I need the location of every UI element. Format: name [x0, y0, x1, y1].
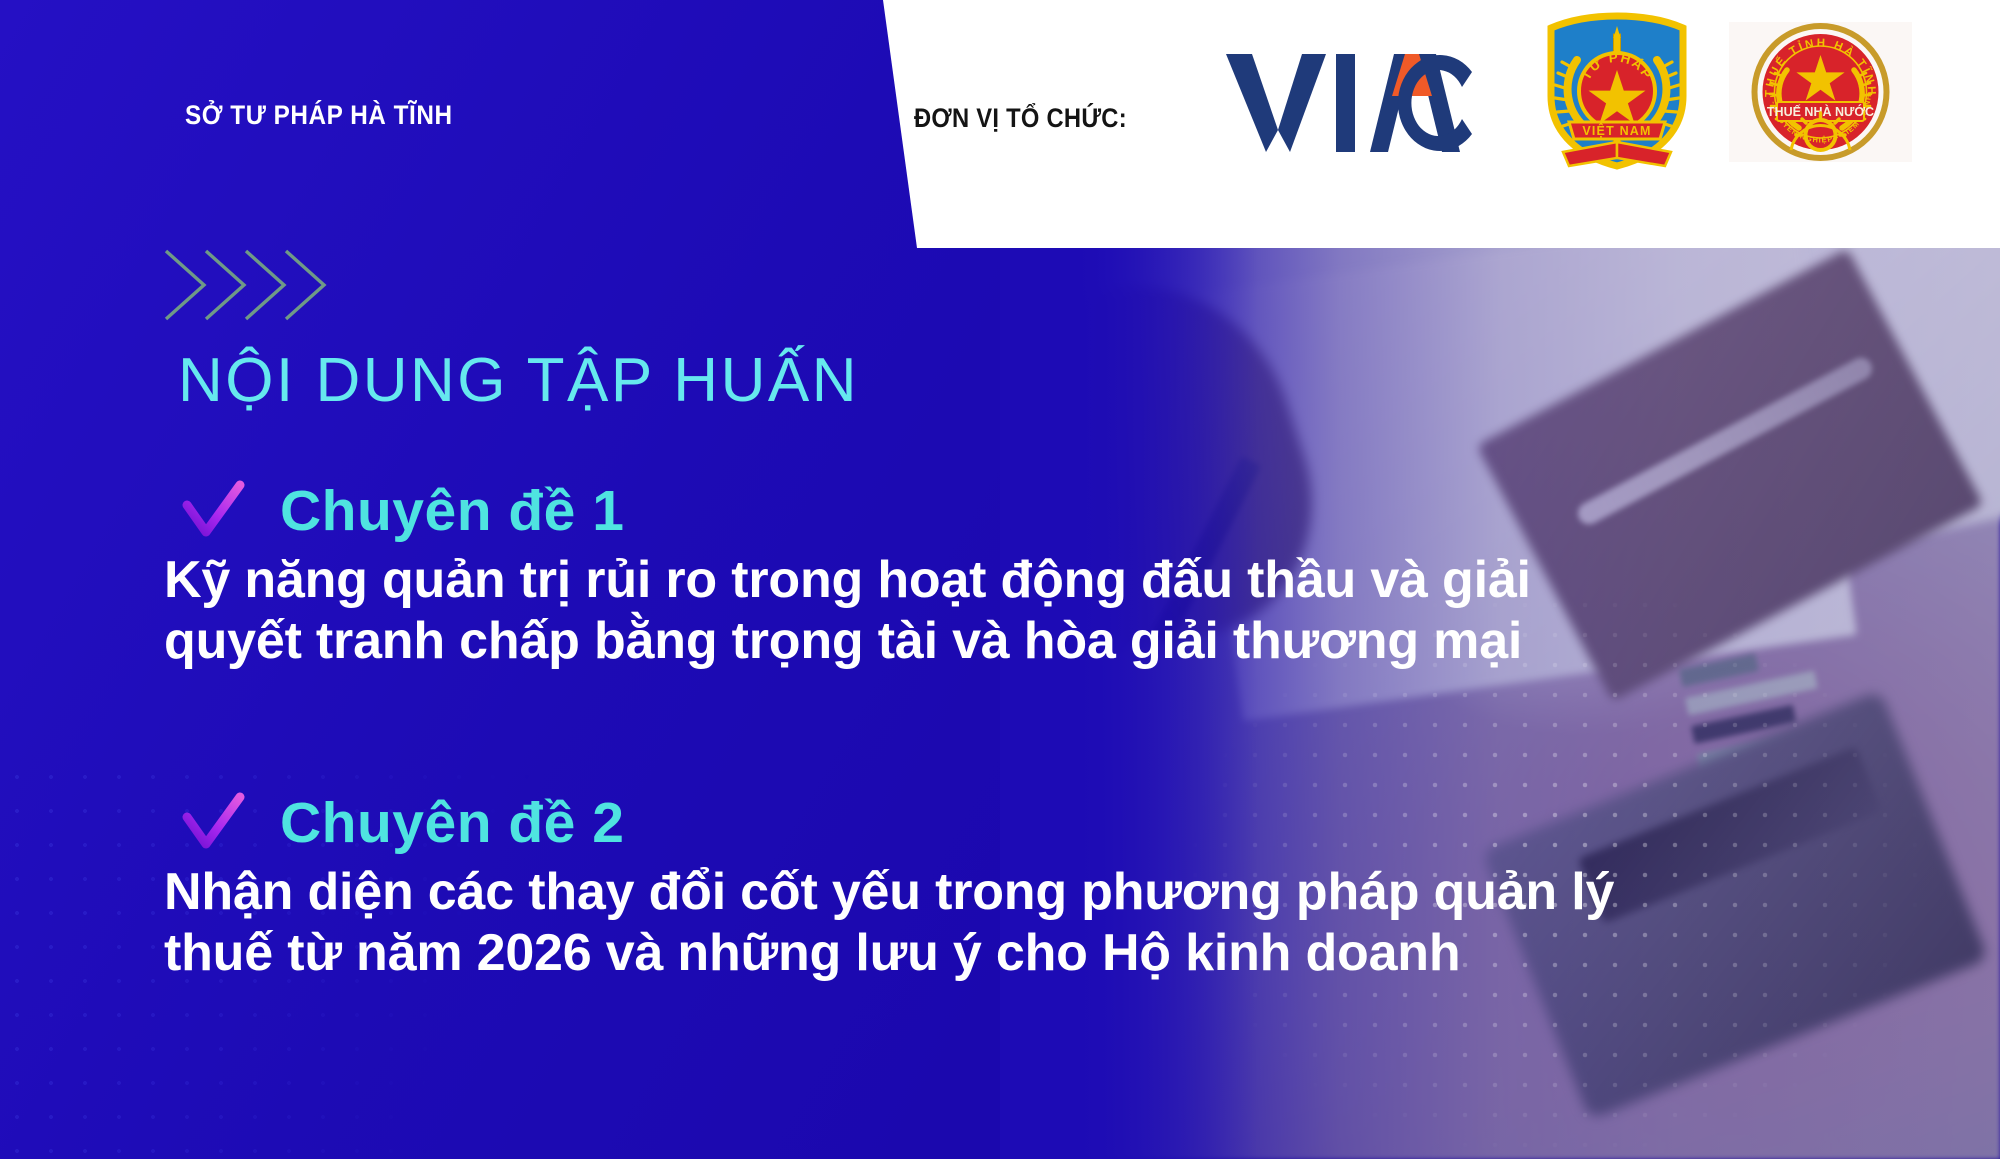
slide-canvas: SỞ TƯ PHÁP HÀ TĨNH ĐƠN VỊ TỔ CHỨC: — [0, 0, 2000, 1159]
ha-tinh-tax-emblem: THUẾ TỈNH HÀ TĨNH MINH BẠCH - CHUYÊN NGH… — [1729, 22, 1912, 162]
topic-block-2: Chuyên đề 2 Nhận diện các thay đổi cốt y… — [168, 790, 1788, 985]
topic-block-1: Chuyên đề 1 Kỹ năng quản trị rủi ro tron… — [168, 478, 1788, 673]
topic-2-line-1: Nhận diện các thay đổi cốt yếu trong phư… — [164, 862, 1788, 923]
svg-text:VIỆT NAM: VIỆT NAM — [1582, 123, 1651, 138]
department-name: SỞ TƯ PHÁP HÀ TĨNH — [185, 100, 453, 131]
topic-2-body: Nhận diện các thay đổi cốt yếu trong phư… — [164, 862, 1788, 985]
topic-1-line-2: quyết tranh chấp bằng trọng tài và hòa g… — [164, 611, 1788, 672]
organizer-label: ĐƠN VỊ TỔ CHỨC: — [914, 103, 1127, 134]
viac-logo — [1222, 48, 1502, 153]
topic-1-header: Chuyên đề 1 — [180, 478, 1788, 544]
check-icon — [180, 790, 246, 856]
topic-2-title: Chuyên đề 2 — [280, 790, 624, 856]
topic-1-body: Kỹ năng quản trị rủi ro trong hoạt động … — [164, 550, 1788, 673]
justice-ministry-emblem: TƯ PHÁP VIỆT NAM — [1543, 12, 1691, 170]
page-title: NỘI DUNG TẬP HUẤN — [178, 348, 859, 413]
topic-1-title: Chuyên đề 1 — [280, 478, 624, 544]
chevron-decoration — [160, 245, 370, 325]
topic-2-header: Chuyên đề 2 — [180, 790, 1788, 856]
check-icon — [180, 478, 246, 544]
topic-2-line-2: thuế từ năm 2026 và những lưu ý cho Hộ k… — [164, 923, 1788, 984]
topic-1-line-1: Kỹ năng quản trị rủi ro trong hoạt động … — [164, 550, 1788, 611]
